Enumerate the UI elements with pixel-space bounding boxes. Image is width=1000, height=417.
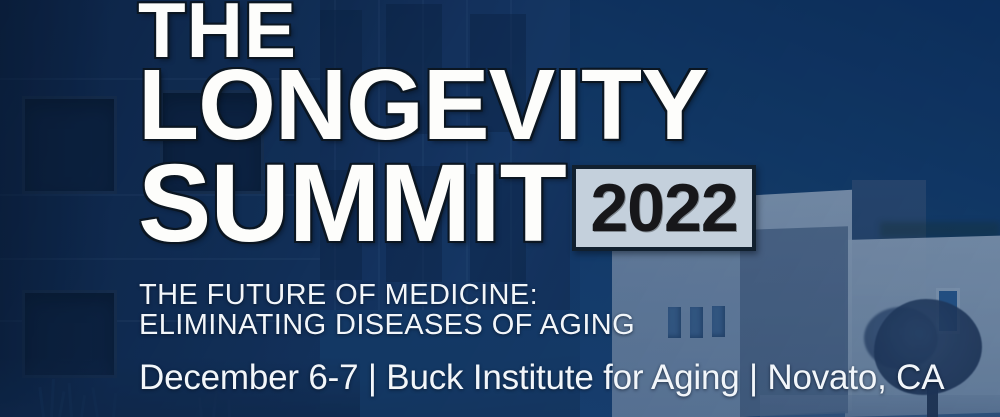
headline-line-summit: SUMMIT bbox=[138, 152, 566, 255]
subtitle-line-1: THE FUTURE OF MEDICINE: bbox=[139, 279, 538, 312]
banner-content: THE LONGEVITY SUMMIT 2022 THE FUTURE OF … bbox=[0, 0, 1000, 417]
year-badge: 2022 bbox=[572, 165, 756, 251]
headline-line-longevity: LONGEVITY bbox=[138, 58, 707, 152]
event-details-line: December 6-7 | Buck Institute for Aging … bbox=[139, 358, 944, 398]
longevity-summit-banner: THE LONGEVITY SUMMIT 2022 THE FUTURE OF … bbox=[0, 0, 1000, 417]
subtitle-line-2: ELIMINATING DISEASES OF AGING bbox=[139, 309, 635, 342]
year-badge-label: 2022 bbox=[590, 174, 737, 242]
